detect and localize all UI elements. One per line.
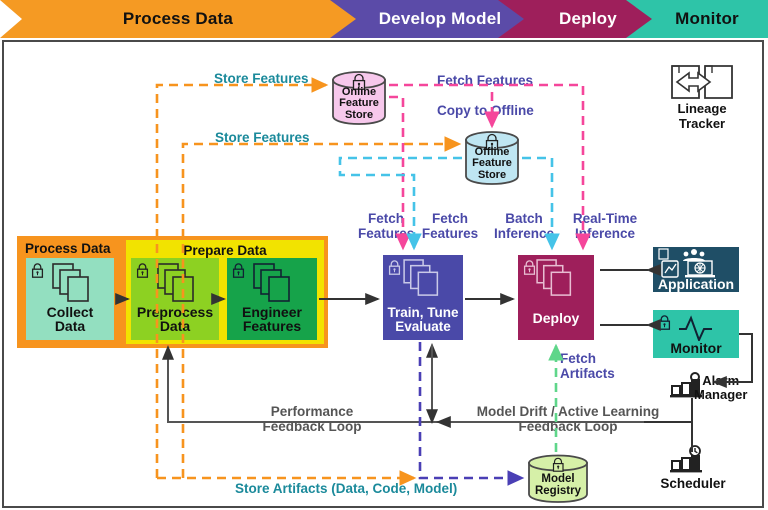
phase-band: Process Data Develop Model Deploy Monito… <box>0 0 768 38</box>
stacked-documents-icon <box>536 259 580 297</box>
ml-pipeline-diagram: Process Data Develop Model Deploy Monito… <box>0 0 768 510</box>
node-application-label: Application <box>656 277 736 292</box>
store-model-registry[interactable]: Model Registry <box>527 454 589 504</box>
stacked-documents-icon <box>157 263 203 303</box>
phase-develop-model[interactable]: Develop Model <box>356 0 524 38</box>
phase-monitor-label: Monitor <box>675 9 739 29</box>
edge-label-store-features-offline: Store Features <box>215 131 310 146</box>
edge-label-fetch-features-train-offline: Fetch Features <box>419 212 481 241</box>
phase-develop-model-label: Develop Model <box>379 9 502 29</box>
store-model-registry-label: Model Registry <box>527 474 589 498</box>
edge-label-store-features-online: Store Features <box>214 72 309 87</box>
node-deploy[interactable]: Deploy <box>518 255 594 340</box>
node-preprocess-data-line2: Data <box>158 319 192 334</box>
lock-icon <box>388 260 401 275</box>
node-engineer-features-line1: Engineer <box>240 305 304 320</box>
icon-lineage-tracker[interactable]: Lineage Tracker <box>664 64 740 128</box>
node-engineer-features-line2: Features <box>241 319 303 334</box>
edge-label-fetch-features-top: Fetch Features <box>437 74 533 89</box>
phase-monitor[interactable]: Monitor <box>652 0 762 38</box>
phase-process-data-label: Process Data <box>123 9 233 29</box>
store-offline-feature[interactable]: Offline Feature Store <box>464 130 520 186</box>
application-icons <box>656 248 736 278</box>
scheduler-icon <box>668 445 716 477</box>
icon-scheduler[interactable] <box>668 445 716 477</box>
phase-deploy[interactable]: Deploy <box>524 0 652 38</box>
lock-icon <box>658 315 671 330</box>
icon-scheduler-label: Scheduler <box>647 477 739 492</box>
icon-alarm-manager-label: Alarm Manager <box>694 374 747 402</box>
node-engineer-features[interactable]: Engineer Features <box>227 258 317 340</box>
node-train-line1: Train, Tune <box>385 306 460 320</box>
store-online-feature-label: Online Feature Store <box>331 87 387 121</box>
phase-process-data[interactable]: Process Data <box>0 0 356 38</box>
store-online-feature[interactable]: Online Feature Store <box>331 70 387 126</box>
node-monitor[interactable]: Monitor <box>653 310 739 358</box>
node-monitor-label: Monitor <box>668 341 723 356</box>
edge-label-performance-feedback: Performance Feedback Loop <box>232 405 392 434</box>
stacked-documents-icon <box>52 263 98 303</box>
edge-label-real-time-inference: Real-Time Inference <box>565 212 645 241</box>
lock-icon <box>31 263 44 278</box>
edge-label-batch-inference: Batch Inference <box>491 212 557 241</box>
icon-lineage-tracker-label: Lineage Tracker <box>664 102 740 131</box>
lineage-tracker-icon <box>670 64 734 100</box>
phase-deploy-label: Deploy <box>559 9 617 29</box>
node-deploy-label: Deploy <box>531 311 582 326</box>
node-preprocess-data[interactable]: Preprocess Data <box>131 258 219 340</box>
node-collect-data-line1: Collect <box>45 305 96 320</box>
group-prepare-data-title: Prepare Data <box>126 243 324 258</box>
stacked-documents-icon <box>253 263 299 303</box>
node-collect-data-line2: Data <box>53 319 87 334</box>
node-train-line2: Evaluate <box>393 320 453 334</box>
stacked-documents-icon <box>403 259 447 297</box>
edge-label-fetch-artifacts: Fetch Artifacts <box>560 352 615 381</box>
edge-label-store-artifacts: Store Artifacts (Data, Code, Model) <box>235 482 457 497</box>
lock-icon <box>136 263 149 278</box>
pulse-waveform-icon <box>677 313 733 341</box>
store-offline-feature-label: Offline Feature Store <box>464 147 520 181</box>
edge-label-model-drift-feedback: Model Drift / Active Learning Feedback L… <box>452 405 684 434</box>
edge-label-fetch-features-train-online: Fetch Features <box>358 212 414 241</box>
node-preprocess-data-line1: Preprocess <box>135 305 215 320</box>
node-application[interactable]: Application <box>653 247 739 292</box>
edge-label-copy-to-offline: Copy to Offline <box>437 104 534 119</box>
node-train-tune-evaluate[interactable]: Train, Tune Evaluate <box>383 255 463 340</box>
lock-icon <box>523 260 536 275</box>
node-collect-data[interactable]: Collect Data <box>26 258 114 340</box>
lock-icon <box>232 263 245 278</box>
